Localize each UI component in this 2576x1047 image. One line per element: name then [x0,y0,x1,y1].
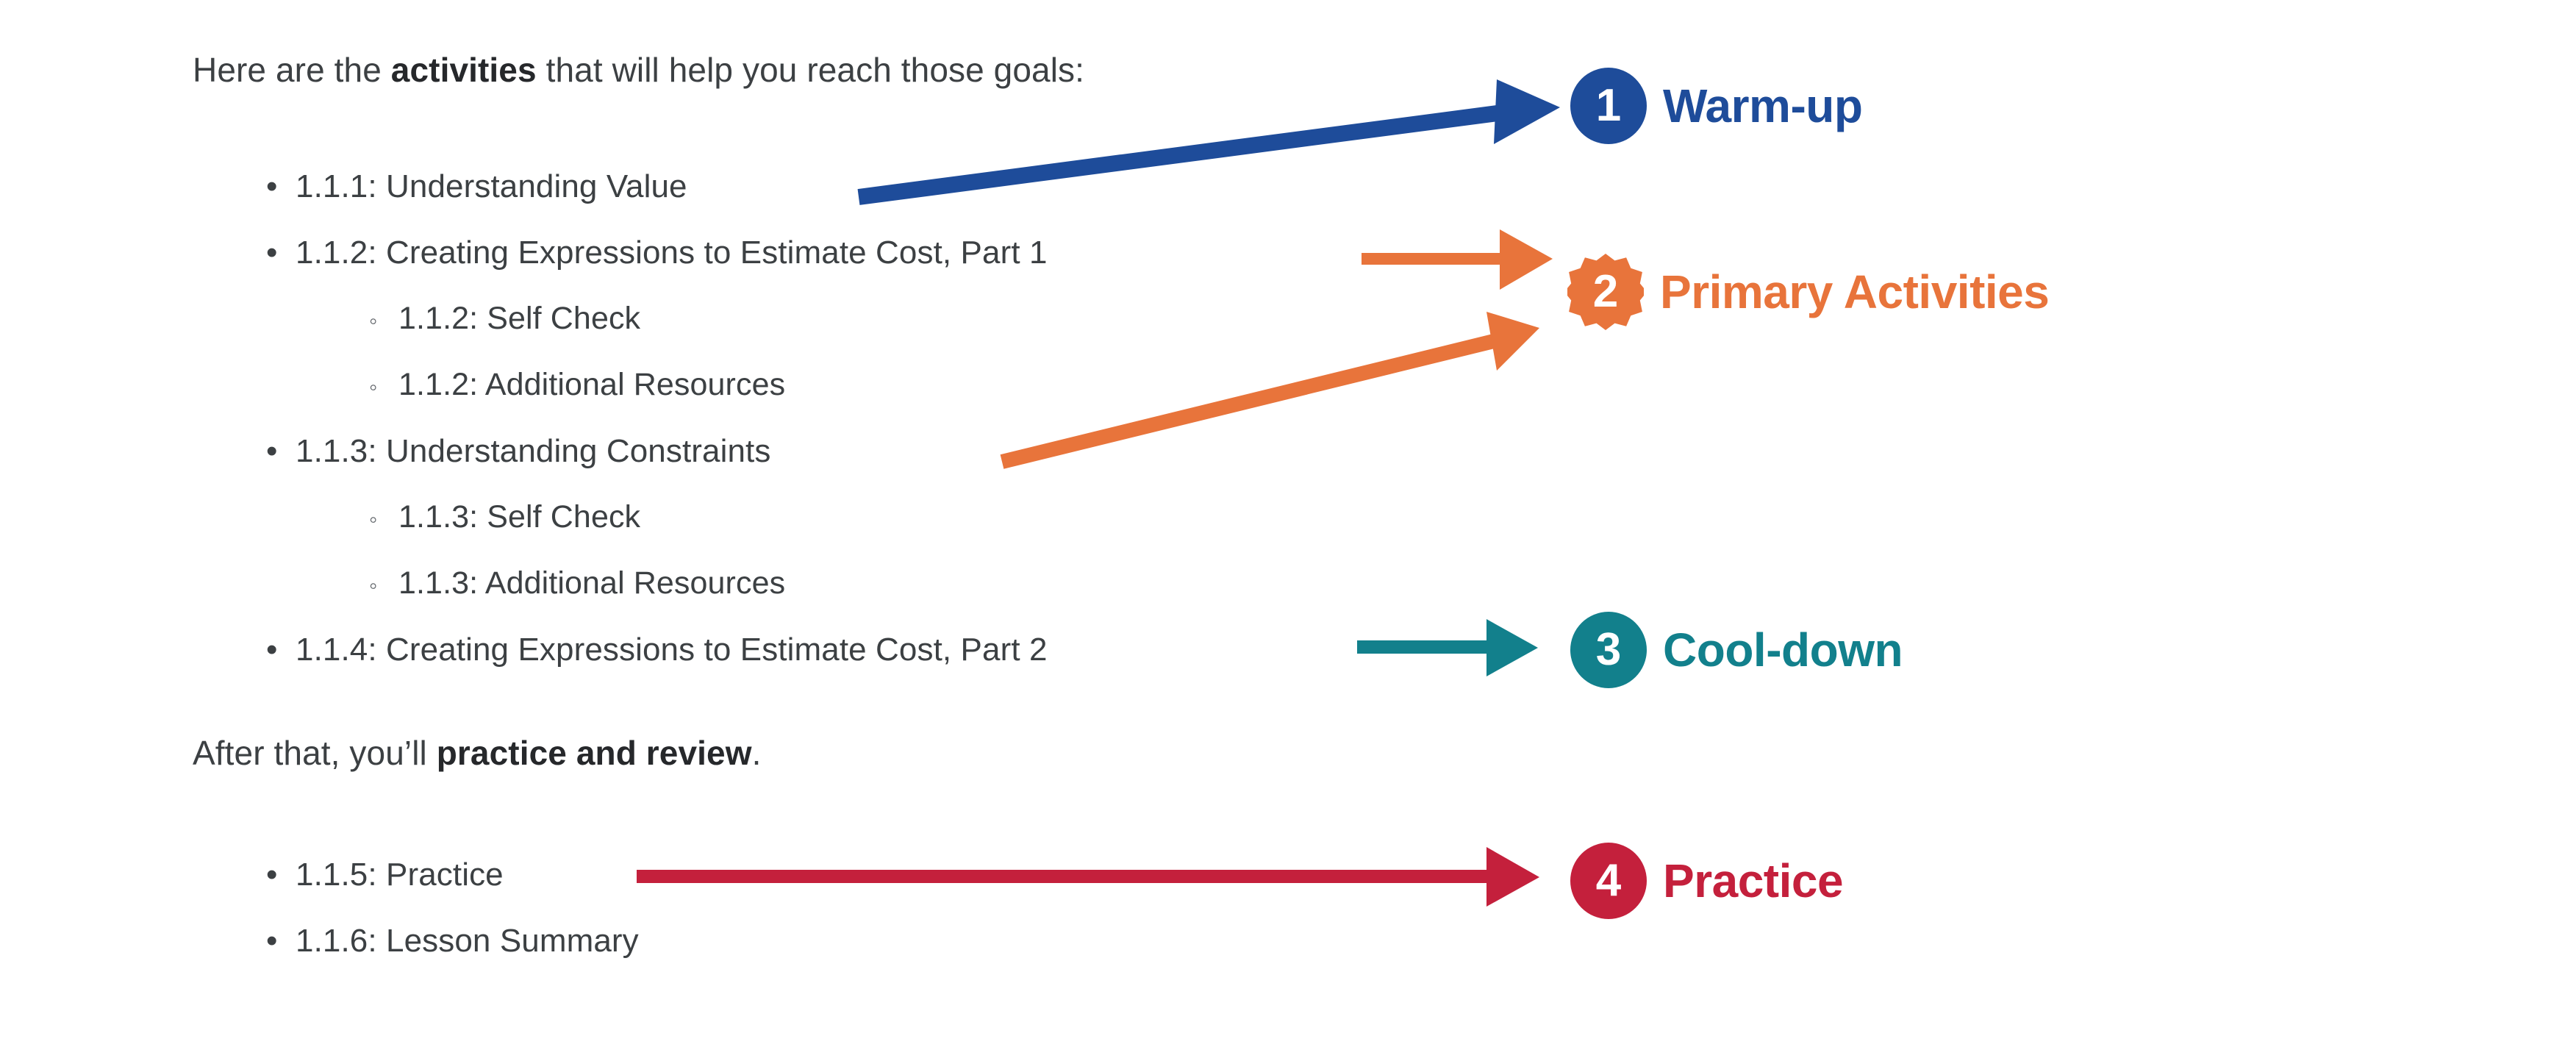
numbered-circle-badge-icon: 1 [1570,68,1647,144]
intro-paragraph: Here are the activities that will help y… [193,53,1084,87]
callout-cool-down[interactable]: 3 Cool-down [1570,612,1903,688]
after-paragraph-before: After that, you’ll [193,734,437,772]
callout-label: Practice [1663,857,1843,904]
list-item[interactable]: •1.1.2: Creating Expressions to Estimate… [266,237,1048,269]
bullet-marker-icon: • [266,435,296,468]
bullet-marker-icon: ◦ [369,507,398,531]
list-item[interactable]: •1.1.4: Creating Expressions to Estimate… [266,634,1048,666]
list-item-label: 1.1.2: Self Check [398,301,640,336]
numbered-circle-badge-icon: 4 [1570,843,1647,919]
list-item[interactable]: •1.1.3: Understanding Constraints [266,435,770,468]
callout-label: Cool-down [1663,626,1903,673]
badge-number: 4 [1596,858,1621,904]
intro-paragraph-after: that will help you reach those goals: [537,51,1084,89]
list-item[interactable]: ◦1.1.3: Additional Resources [369,568,785,599]
list-item[interactable]: ◦1.1.2: Additional Resources [369,369,785,401]
list-item-label: 1.1.2: Additional Resources [398,367,785,402]
list-item[interactable]: •1.1.6: Lesson Summary [266,925,639,957]
lesson-outline-document: Here are the activities that will help y… [0,0,1544,1047]
bullet-marker-icon: • [266,634,296,666]
bullet-marker-icon: • [266,925,296,957]
list-item-label: 1.1.6: Lesson Summary [296,923,639,959]
list-item-label: 1.1.1: Understanding Value [296,168,687,204]
list-item[interactable]: •1.1.1: Understanding Value [266,171,687,203]
callout-warm-up[interactable]: 1 Warm-up [1570,68,1862,144]
after-paragraph: After that, you’ll practice and review. [193,736,762,770]
intro-paragraph-emphasis: activities [391,51,537,89]
bullet-marker-icon: ◦ [369,375,398,399]
list-item-label: 1.1.4: Creating Expressions to Estimate … [296,632,1048,668]
after-paragraph-after: . [752,734,762,772]
badge-number: 1 [1596,83,1621,129]
callout-label: Primary Activities [1660,268,2049,315]
numbered-circle-badge-icon: 3 [1570,612,1647,688]
list-item-label: 1.1.3: Additional Resources [398,565,785,601]
list-item-label: 1.1.2: Creating Expressions to Estimate … [296,235,1048,271]
callout-label: Warm-up [1663,82,1862,129]
bullet-marker-icon: • [266,859,296,891]
callout-practice[interactable]: 4 Practice [1570,843,1843,919]
bullet-marker-icon: • [266,237,296,269]
bullet-marker-icon: ◦ [369,309,398,332]
list-item[interactable]: ◦1.1.3: Self Check [369,501,640,533]
intro-paragraph-before: Here are the [193,51,391,89]
annotated-lesson-outline: Here are the activities that will help y… [0,0,2576,1047]
list-item-label: 1.1.3: Understanding Constraints [296,433,770,469]
numbered-starburst-badge-icon: 2 [1567,254,1644,330]
bullet-marker-icon: • [266,171,296,203]
list-item-label: 1.1.5: Practice [296,857,504,893]
badge-number: 3 [1596,627,1621,673]
bullet-marker-icon: ◦ [369,573,398,597]
list-item[interactable]: ◦1.1.2: Self Check [369,303,640,335]
callout-primary-activities[interactable]: 2 Primary Activities [1567,254,2049,330]
after-paragraph-emphasis: practice and review [437,734,752,772]
list-item[interactable]: •1.1.5: Practice [266,859,504,891]
list-item-label: 1.1.3: Self Check [398,499,640,535]
badge-number: 2 [1593,269,1618,315]
